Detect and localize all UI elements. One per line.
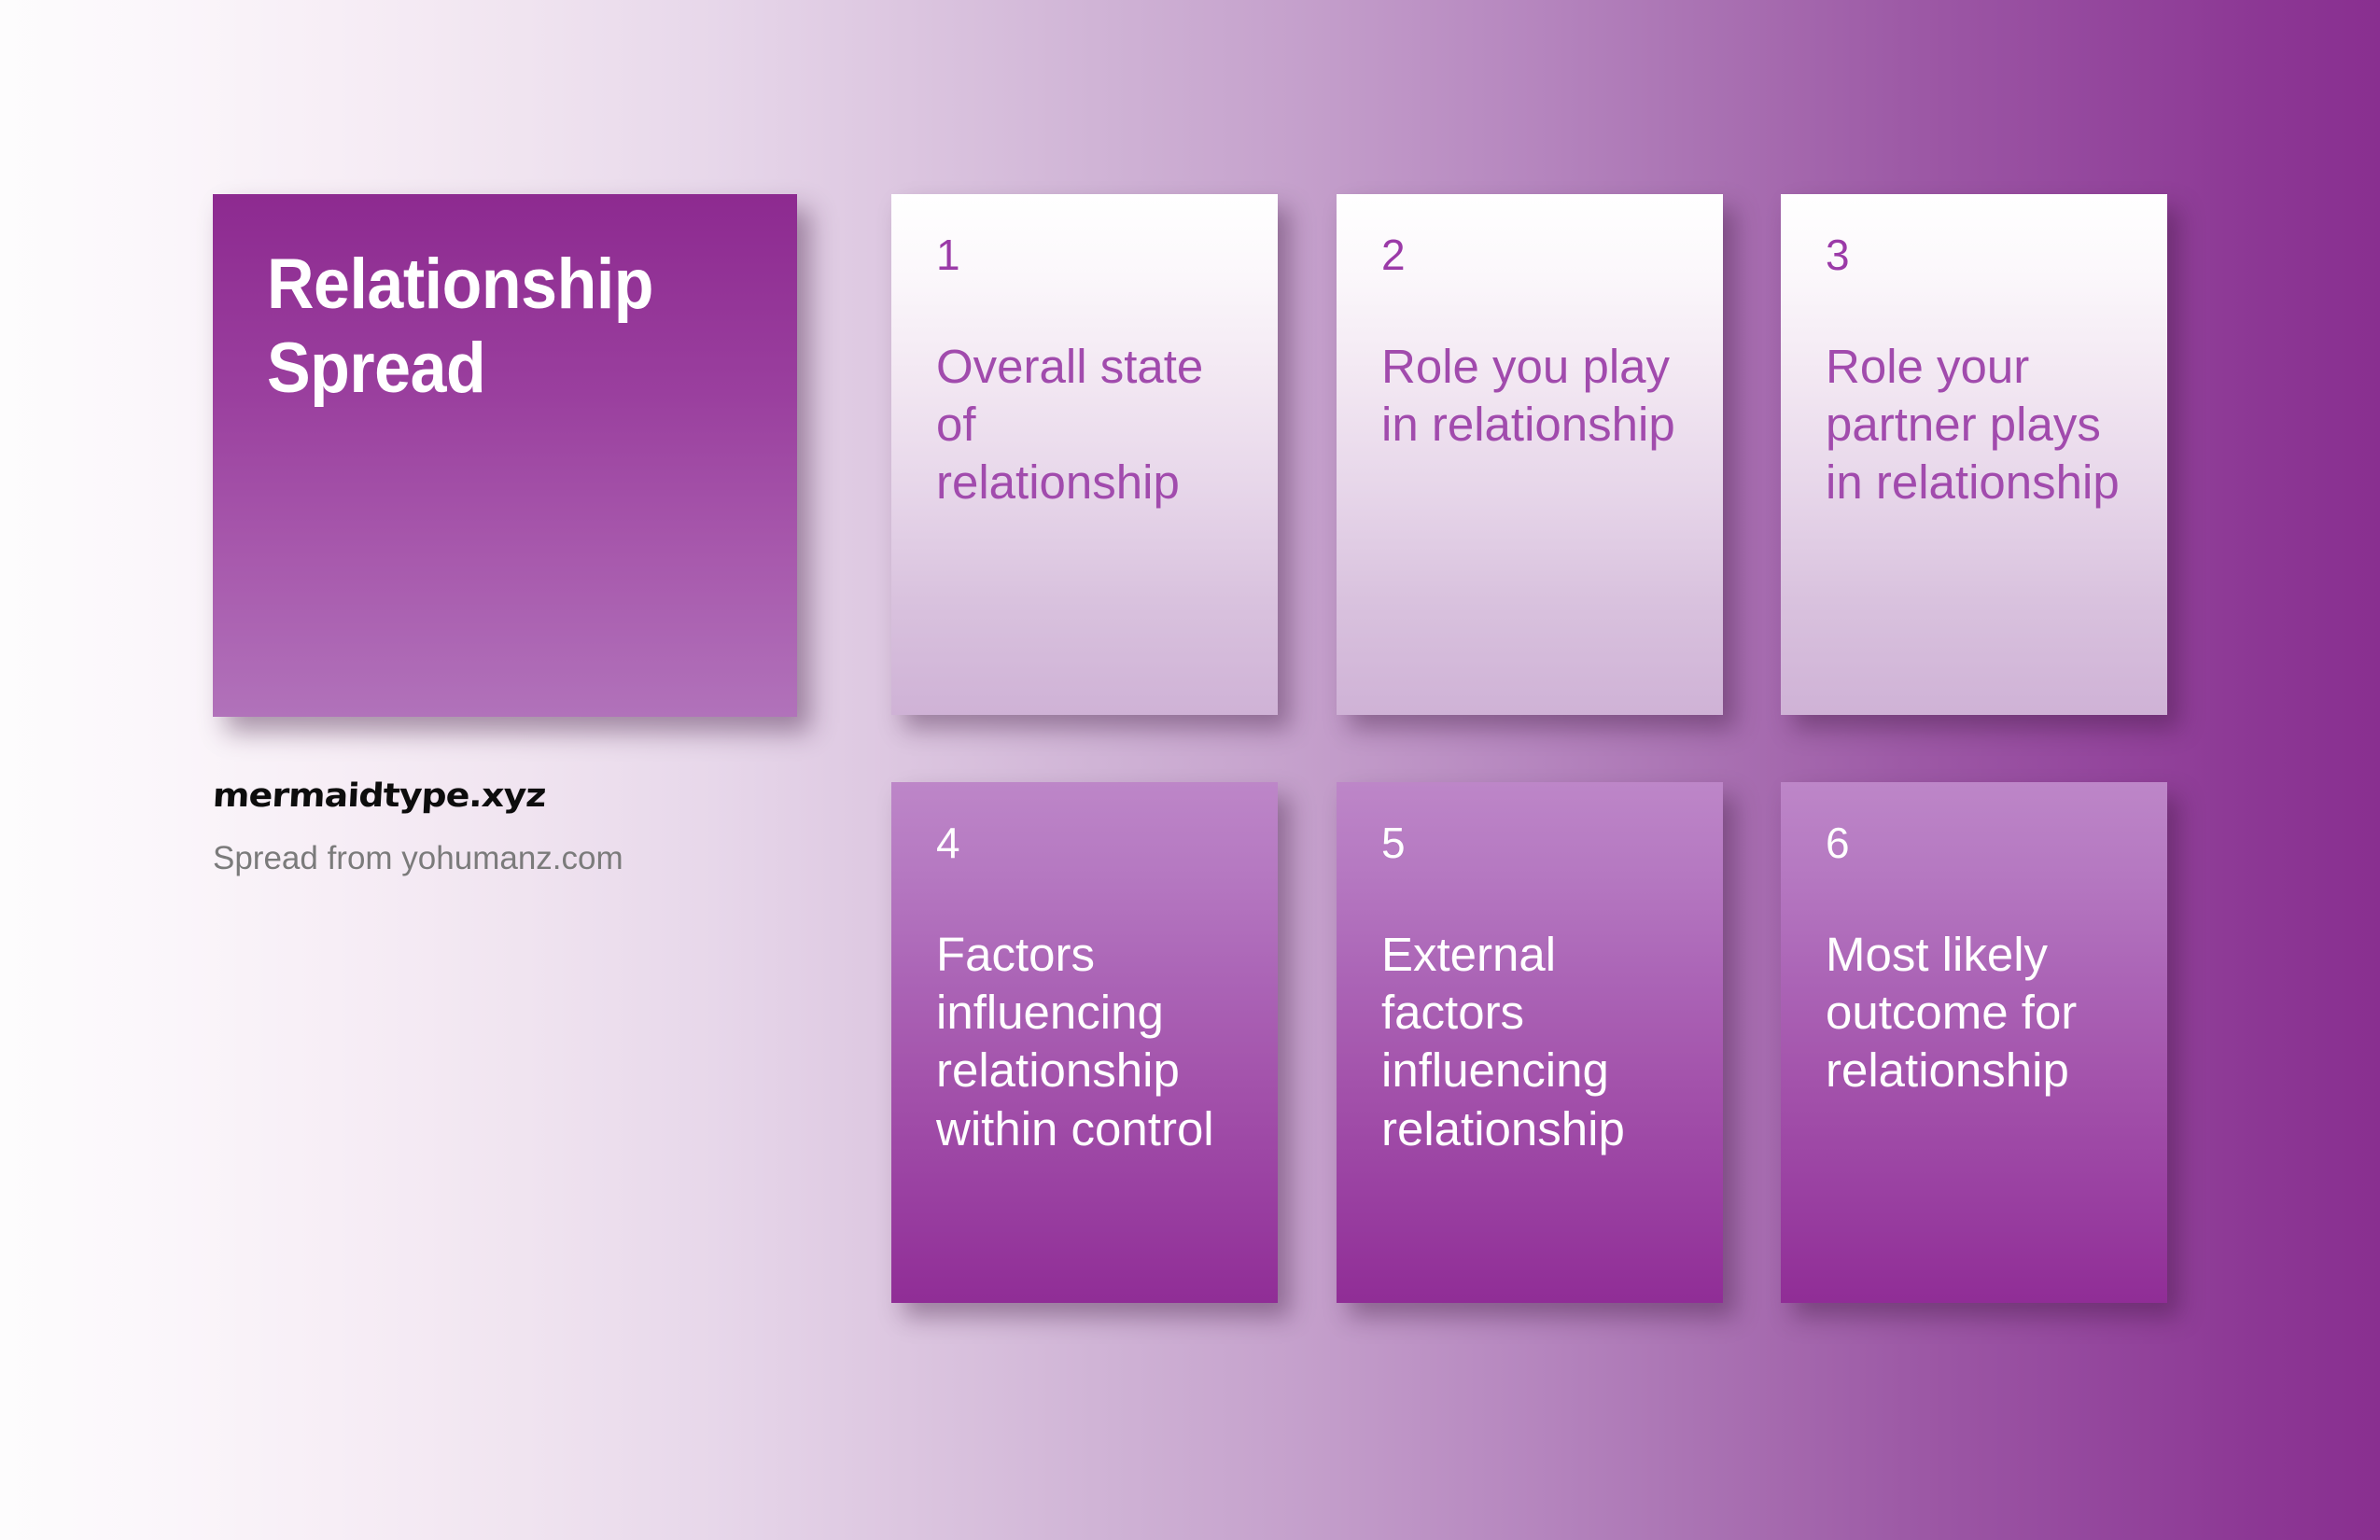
- spread-card-5[interactable]: 5 External factors influencing relations…: [1337, 782, 1723, 1303]
- spread-card-4[interactable]: 4 Factors influencing relationship withi…: [891, 782, 1278, 1303]
- card-description: External factors influencing relationshi…: [1381, 926, 1676, 1158]
- title-card: Relationship Spread: [213, 194, 797, 717]
- card-number: 3: [1826, 233, 2122, 276]
- card-number: 6: [1826, 821, 2122, 864]
- spread-card-1[interactable]: 1 Overall state of relationship: [891, 194, 1278, 715]
- branding-block: mermaidtype.xyz Spread from yohumanz.com: [213, 775, 810, 877]
- spread-card-2[interactable]: 2 Role you play in relationship: [1337, 194, 1723, 715]
- card-number: 2: [1381, 233, 1678, 276]
- spread-canvas: Relationship Spread mermaidtype.xyz Spre…: [0, 0, 2380, 1540]
- card-description: Factors influencing relationship within …: [936, 926, 1231, 1158]
- card-number: 1: [936, 233, 1233, 276]
- card-description: Overall state of relationship: [936, 338, 1231, 512]
- spread-card-3[interactable]: 3 Role your partner plays in relationshi…: [1781, 194, 2167, 715]
- card-description: Most likely outcome for relationship: [1826, 926, 2121, 1100]
- page-title: Relationship Spread: [267, 243, 705, 410]
- card-description: Role you play in relationship: [1381, 338, 1676, 454]
- spread-source-credit: Spread from yohumanz.com: [213, 840, 810, 877]
- brand-logo-text: mermaidtype.xyz: [212, 777, 811, 814]
- card-description: Role your partner plays in relationship: [1826, 338, 2121, 512]
- spread-card-6[interactable]: 6 Most likely outcome for relationship: [1781, 782, 2167, 1303]
- card-number: 5: [1381, 821, 1678, 864]
- card-number: 4: [936, 821, 1233, 864]
